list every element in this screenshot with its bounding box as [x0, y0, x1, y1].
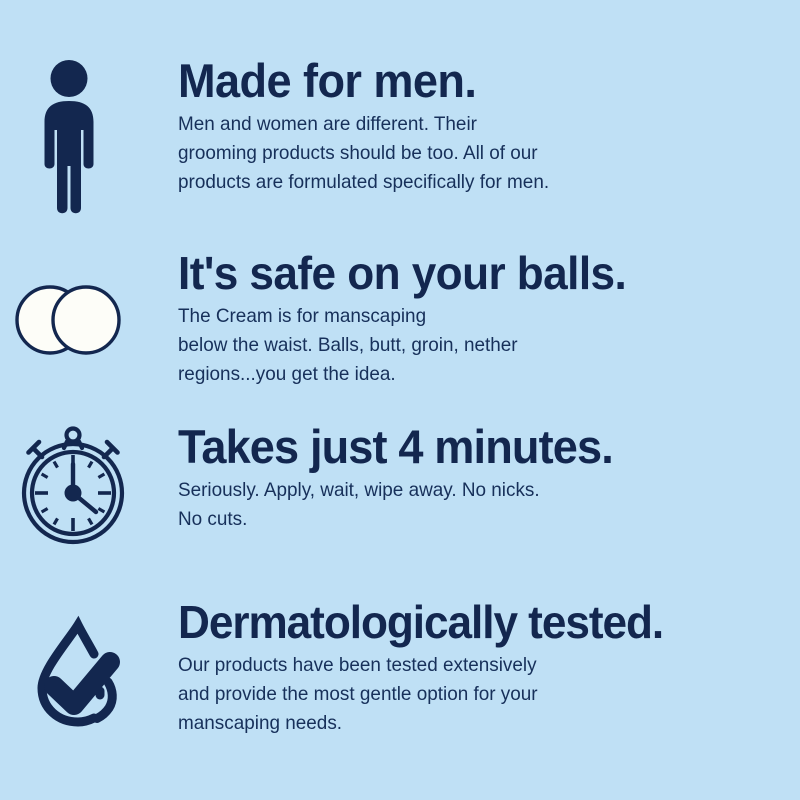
two-circles-icon	[12, 284, 124, 356]
feature-heading: It's safe on your balls.	[178, 248, 775, 298]
feature-icon-cell	[0, 422, 178, 548]
feature-body-line: grooming products should be too. All of …	[178, 139, 781, 168]
feature-row-made-for-men: Made for men. Men and women are differen…	[0, 56, 800, 216]
feature-text-cell: Dermatologically tested. Our products ha…	[178, 597, 800, 738]
droplet-check-icon	[30, 612, 134, 730]
feature-body-line: manscaping needs.	[178, 709, 781, 738]
standing-man-icon	[38, 60, 100, 216]
feature-icon-cell	[0, 56, 178, 216]
feature-heading: Takes just 4 minutes.	[178, 422, 775, 472]
feature-body-line: The Cream is for manscaping	[178, 302, 781, 331]
feature-row-safe-on-balls: It's safe on your balls. The Cream is fo…	[0, 248, 800, 389]
feature-text-cell: Takes just 4 minutes. Seriously. Apply, …	[178, 422, 800, 534]
feature-body-line: Seriously. Apply, wait, wipe away. No ni…	[178, 476, 781, 505]
feature-row-four-minutes: Takes just 4 minutes. Seriously. Apply, …	[0, 422, 800, 548]
feature-body: The Cream is for manscaping below the wa…	[178, 302, 781, 389]
feature-icon-cell	[0, 597, 178, 730]
feature-heading: Made for men.	[178, 56, 775, 106]
stopwatch-icon	[12, 426, 134, 548]
feature-body-line: and provide the most gentle option for y…	[178, 680, 781, 709]
benefits-infographic: Made for men. Men and women are differen…	[0, 0, 800, 800]
feature-row-derm-tested: Dermatologically tested. Our products ha…	[0, 597, 800, 738]
feature-body-line: Men and women are different. Their	[178, 110, 781, 139]
feature-text-cell: It's safe on your balls. The Cream is fo…	[178, 248, 800, 389]
feature-body: Our products have been tested extensivel…	[178, 651, 781, 738]
feature-body-line: below the waist. Balls, butt, groin, net…	[178, 331, 781, 360]
feature-text-cell: Made for men. Men and women are differen…	[178, 56, 800, 197]
feature-body: Seriously. Apply, wait, wipe away. No ni…	[178, 476, 781, 534]
feature-body-line: Our products have been tested extensivel…	[178, 651, 781, 680]
feature-body-line: regions...you get the idea.	[178, 360, 781, 389]
feature-body-line: products are formulated specifically for…	[178, 168, 781, 197]
feature-body-line: No cuts.	[178, 505, 781, 534]
feature-body: Men and women are different. Their groom…	[178, 110, 781, 197]
feature-heading: Dermatologically tested.	[178, 597, 775, 647]
feature-icon-cell	[0, 248, 178, 356]
